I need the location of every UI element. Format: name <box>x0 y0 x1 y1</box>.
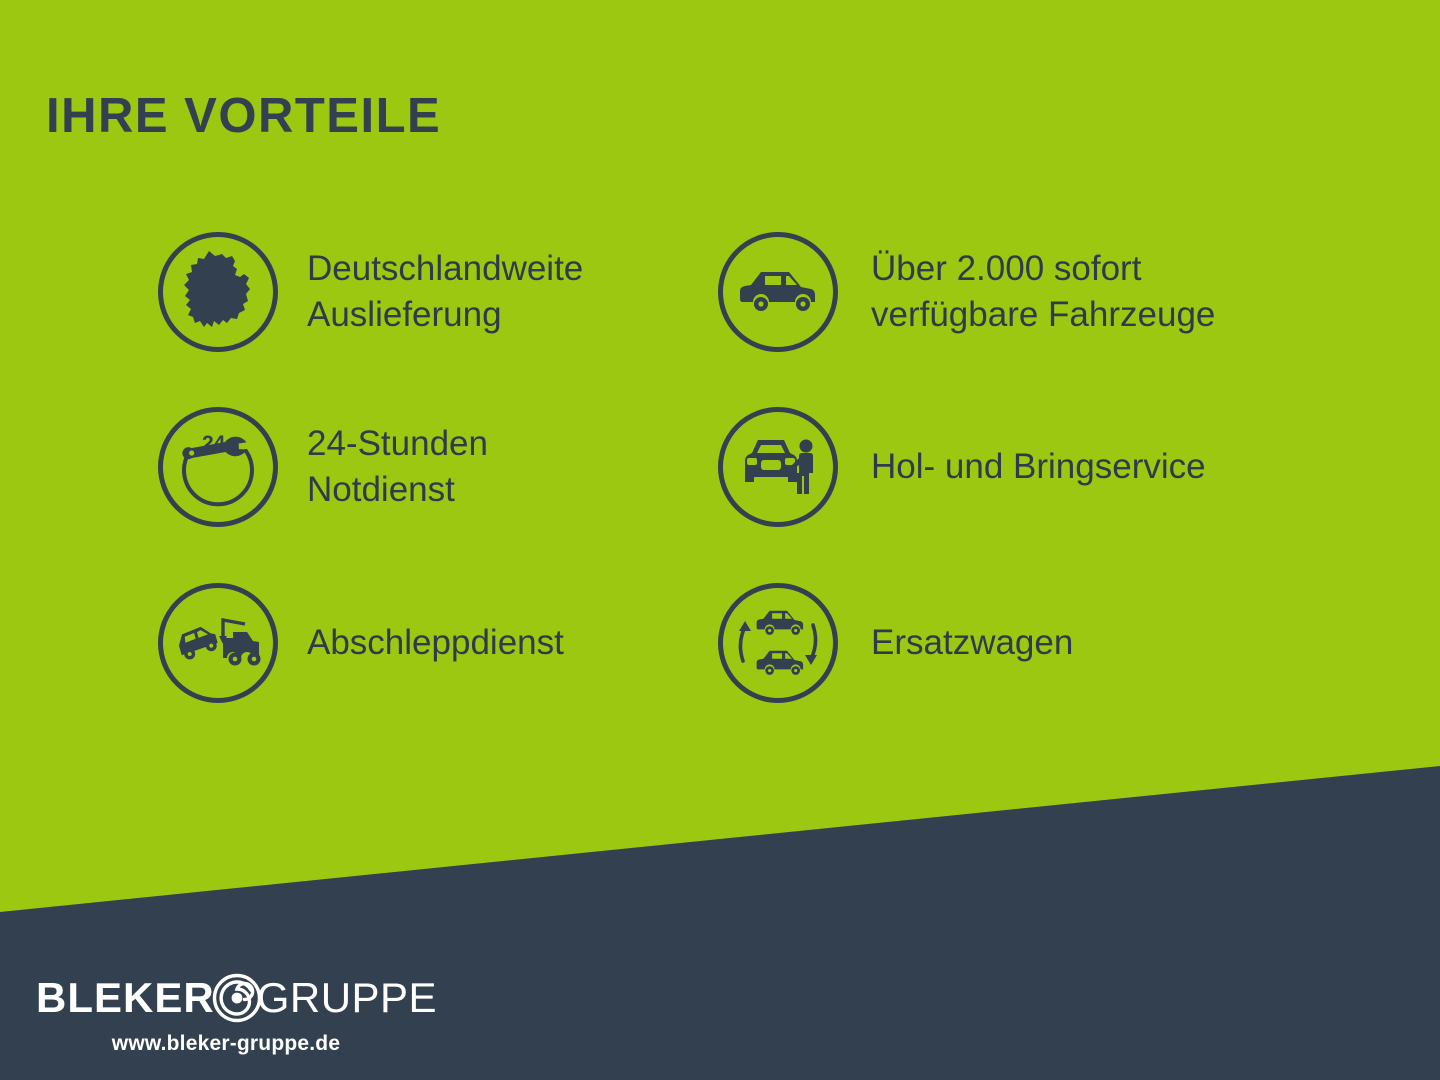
benefit-label: Hol- und Bringservice <box>871 444 1206 490</box>
benefit-label: Ersatzwagen <box>871 620 1073 666</box>
logo-wordmark: BLEKER GRUPPE <box>36 972 416 1024</box>
car-side-icon <box>718 232 838 352</box>
car-with-person-icon <box>718 407 838 527</box>
24-hour-wrench-icon: 24 <box>158 407 278 527</box>
benefit-label: Deutschlandweite Auslieferung <box>307 246 583 338</box>
benefit-item-24-stunden-notdienst: 24 24-Stunden Notdienst <box>158 407 488 527</box>
benefit-item-ersatzwagen: Ersatzwagen <box>718 583 1073 703</box>
benefit-label: Über 2.000 sofort verfügbare Fahrzeuge <box>871 246 1215 338</box>
benefit-label: 24-Stunden Notdienst <box>307 421 488 513</box>
tow-truck-icon <box>158 583 278 703</box>
benefit-label: Abschleppdienst <box>307 620 564 666</box>
logo-secondary-text: GRUPPE <box>257 977 437 1019</box>
logo-primary-text: BLEKER <box>36 977 215 1019</box>
green-background-panel <box>0 0 1440 1080</box>
brand-logo: BLEKER GRUPPE www.bleker-gruppe.de <box>36 972 416 1056</box>
slide-root: IHRE VORTEILE Deutschlandweite Ausliefer… <box>0 0 1440 1080</box>
benefit-item-verfuegbare-fahrzeuge: Über 2.000 sofort verfügbare Fahrzeuge <box>718 232 1215 352</box>
benefit-item-deutschlandweite-auslieferung: Deutschlandweite Auslieferung <box>158 232 583 352</box>
car-exchange-icon <box>718 583 838 703</box>
page-title: IHRE VORTEILE <box>46 88 441 144</box>
logo-url: www.bleker-gruppe.de <box>36 1032 416 1056</box>
benefit-item-abschleppdienst: Abschleppdienst <box>158 583 564 703</box>
benefit-item-hol-und-bringservice: Hol- und Bringservice <box>718 407 1206 527</box>
spiral-circle-logo-icon <box>211 972 263 1024</box>
germany-map-icon <box>158 232 278 352</box>
